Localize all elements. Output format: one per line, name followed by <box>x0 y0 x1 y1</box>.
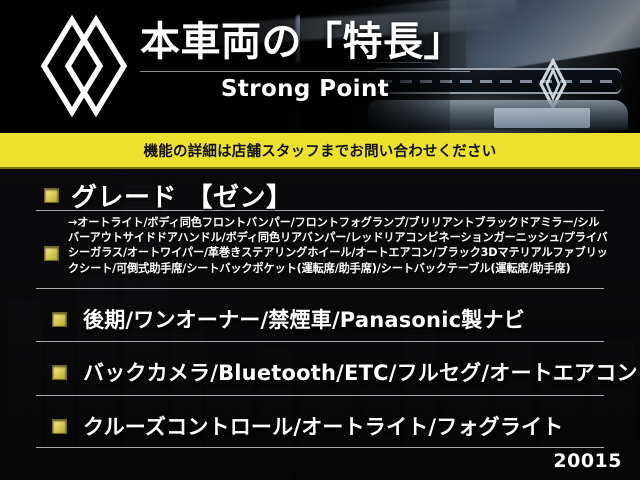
car-license-plate <box>494 108 590 128</box>
page-title: 本車両の「特長」 <box>140 20 470 65</box>
feature-row-text: クルーズコントロール/オートライト/フォグライト <box>83 411 563 441</box>
header-title-block: 本車両の「特長」 Strong Point <box>140 20 470 102</box>
feature-row-text: バックカメラ/Bluetooth/ETC/フルセグ/オートエアコン <box>83 357 638 387</box>
title-divider <box>140 71 470 72</box>
grade-detail-line: バーアウトサイドドアハンドル/ボディ同色リアバンパー/レッドリアコンビネーション… <box>68 230 624 245</box>
header-banner: 本車両の「特長」 Strong Point <box>0 0 640 133</box>
strong-point-slide: 本車両の「特長」 Strong Point 機能の詳細は店舗スタッフまでお問い合… <box>0 0 640 480</box>
contact-banner-text: 機能の詳細は店舗スタッフまでお問い合わせください <box>144 140 497 161</box>
grade-title: グレード 【ゼン】 <box>71 177 293 214</box>
bullet-square-icon <box>52 419 67 434</box>
bullet-square-icon <box>52 365 67 380</box>
renault-diamond-logo <box>32 14 136 118</box>
feature-row: 後期/ワンオーナー/禁煙車/Panasonic製ナビ <box>44 296 624 342</box>
grade-detail-line: クシート/可倒式助手席/シートバックポケット(運転席/助手席)/シートバックテー… <box>68 261 624 276</box>
feature-row-text: 後期/ワンオーナー/禁煙車/Panasonic製ナビ <box>83 304 525 334</box>
grade-detail-line: →オートライト/ボディ同色フロントバンパー/フロントフォグランプ/ブリリアントブ… <box>68 215 624 230</box>
feature-row: バックカメラ/Bluetooth/ETC/フルセグ/オートエアコン <box>44 349 624 395</box>
features-content: グレード 【ゼン】 →オートライト/ボディ同色フロントバンパー/フロントフォグラ… <box>0 169 640 480</box>
contact-banner: 機能の詳細は店舗スタッフまでお問い合わせください <box>0 133 640 169</box>
bullet-square-icon <box>52 312 67 327</box>
page-subtitle: Strong Point <box>140 76 470 102</box>
bullet-square-icon <box>44 188 59 203</box>
section-divider <box>36 288 604 289</box>
section-divider <box>36 395 604 396</box>
grade-detail-line: シーガラス/オートワイパー/革巻きステアリングホイール/オートエアコン/ブラック… <box>68 245 624 260</box>
grade-section: グレード 【ゼン】 →オートライト/ボディ同色フロントバンパー/フロントフォグラ… <box>44 177 624 276</box>
grade-heading: グレード 【ゼン】 <box>44 177 624 214</box>
feature-row: クルーズコントロール/オートライト/フォグライト <box>44 403 624 449</box>
bullet-square-icon <box>44 246 59 261</box>
stock-number: 20015 <box>553 450 622 472</box>
grade-detail-text: →オートライト/ボディ同色フロントバンパー/フロントフォグランプ/ブリリアントブ… <box>68 215 624 276</box>
